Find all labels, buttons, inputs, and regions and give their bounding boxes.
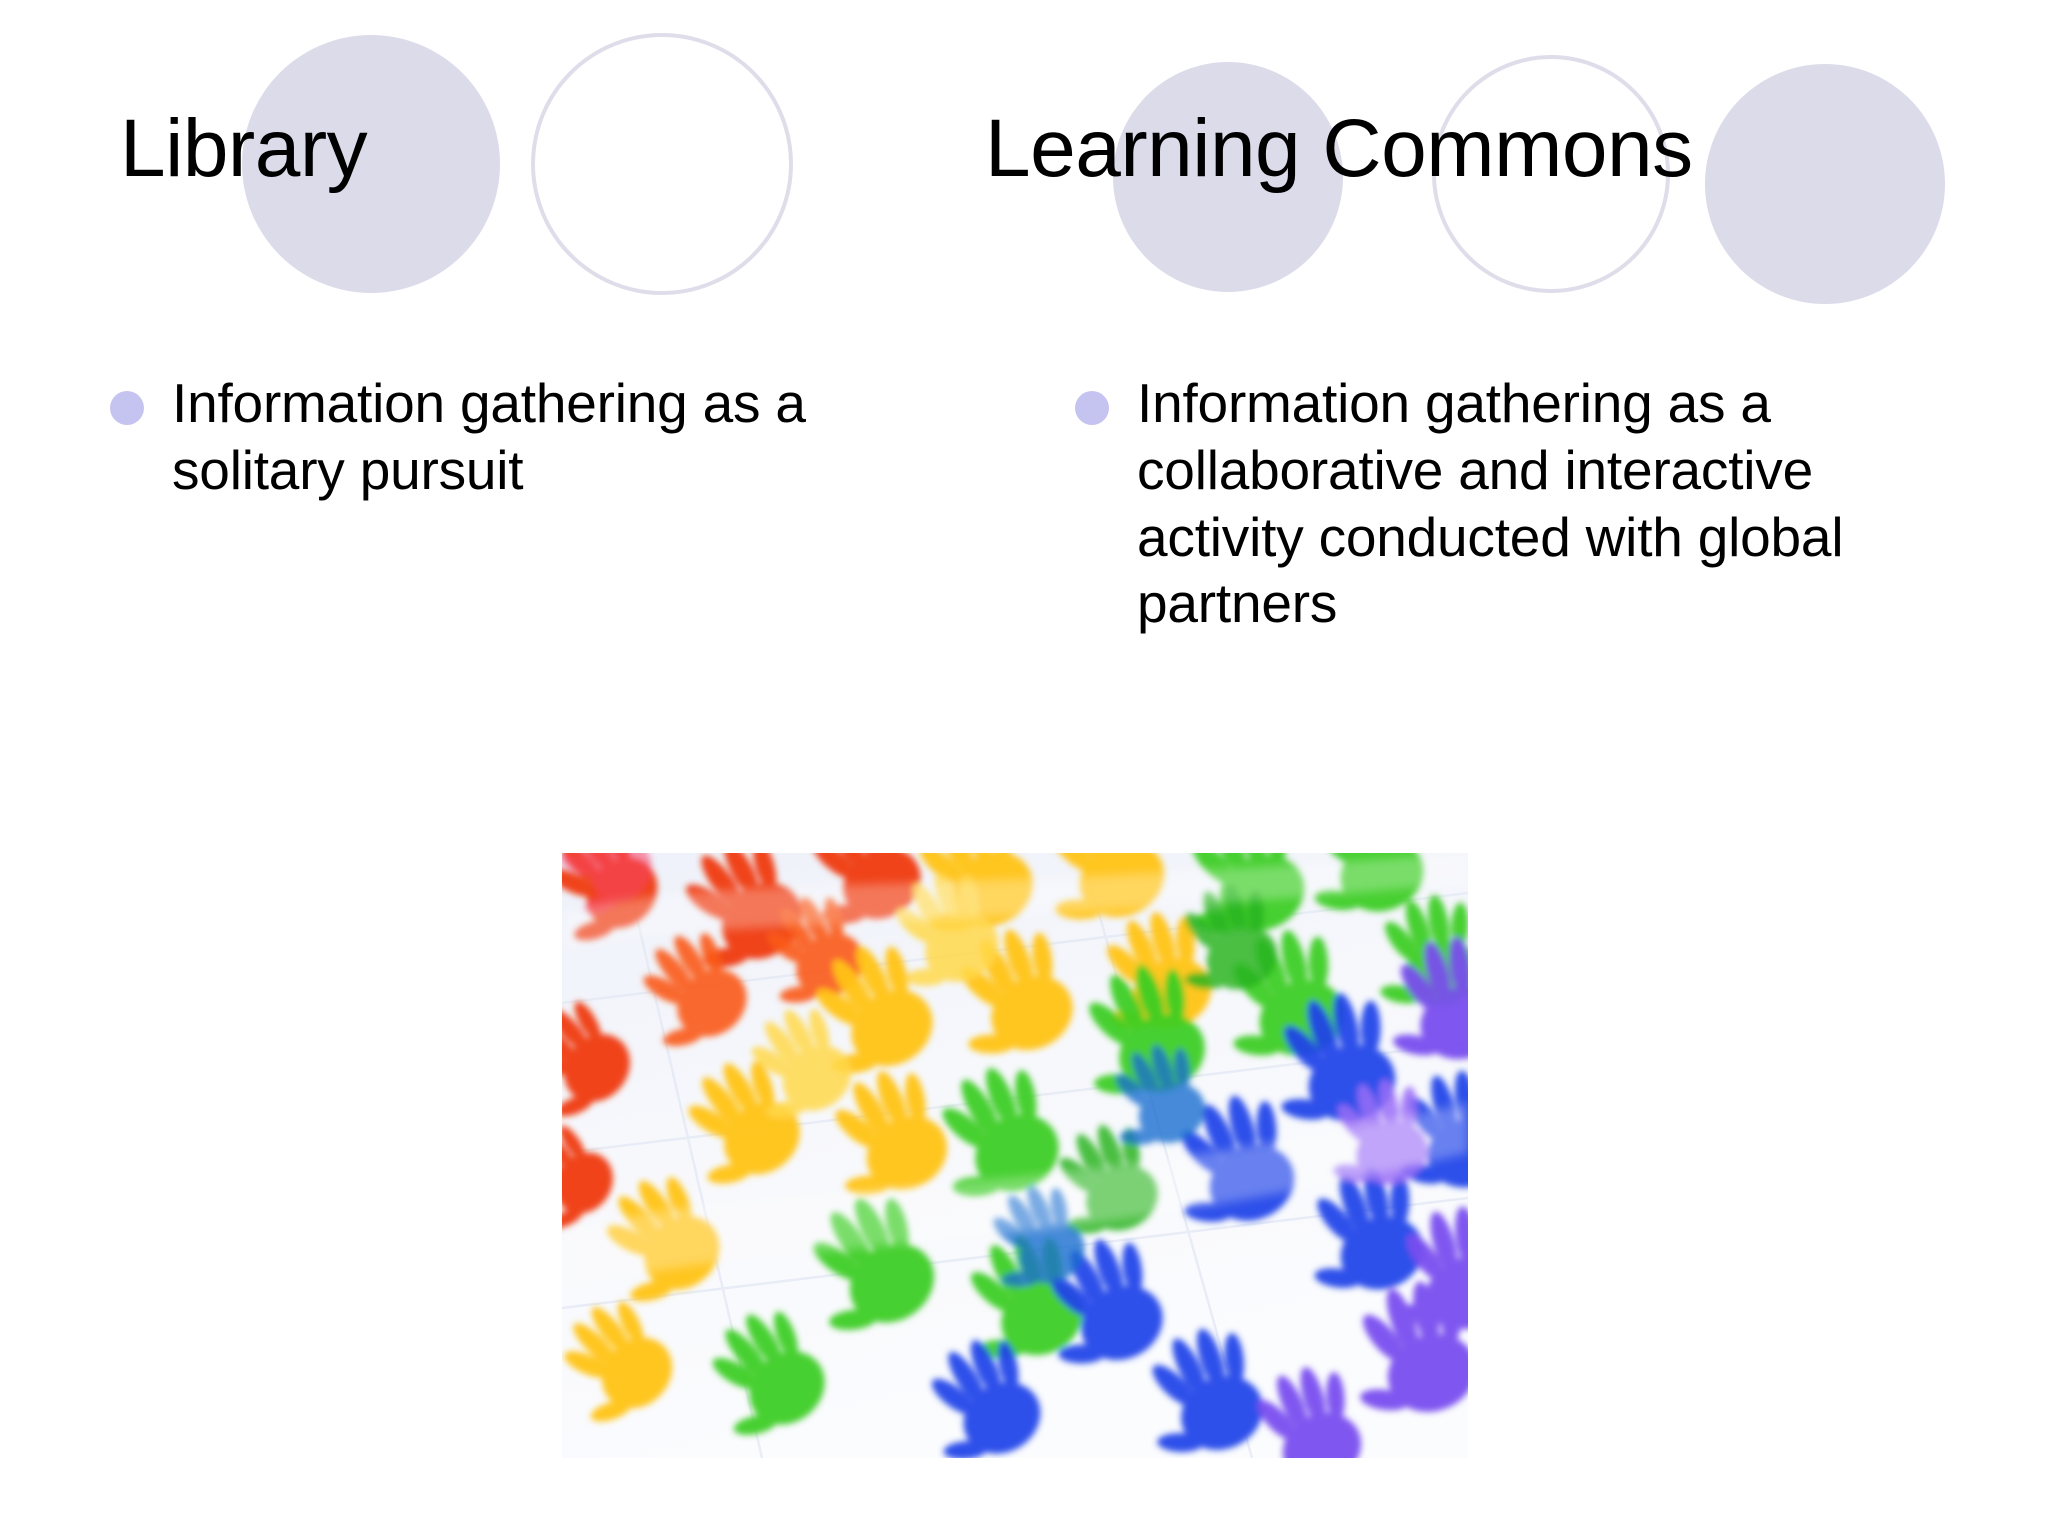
bullet-dot-icon	[1075, 391, 1109, 425]
list-item: Information gathering as a collaborative…	[1075, 370, 1885, 637]
list-item: Information gathering as a solitary purs…	[110, 370, 870, 504]
picture-rainbow-handprints	[562, 853, 1468, 1458]
title-learning-commons: Learning Commons	[985, 108, 1693, 190]
bullet-text-learning-commons-1: Information gathering as a collaborative…	[1137, 370, 1867, 637]
content-columns: Information gathering as a solitary purs…	[0, 370, 2048, 830]
slide-canvas: Library Learning Commons Information gat…	[0, 0, 2048, 1536]
bullet-text-library-1: Information gathering as a solitary purs…	[172, 370, 812, 504]
column-learning-commons: Information gathering as a collaborative…	[1075, 370, 1885, 637]
bullet-dot-icon	[110, 391, 144, 425]
handprint-artwork	[562, 853, 1468, 1458]
circle-filled-3-icon	[1705, 64, 1945, 304]
column-library: Information gathering as a solitary purs…	[110, 370, 870, 504]
title-library: Library	[120, 108, 367, 190]
circle-outline-1-icon	[531, 33, 793, 295]
